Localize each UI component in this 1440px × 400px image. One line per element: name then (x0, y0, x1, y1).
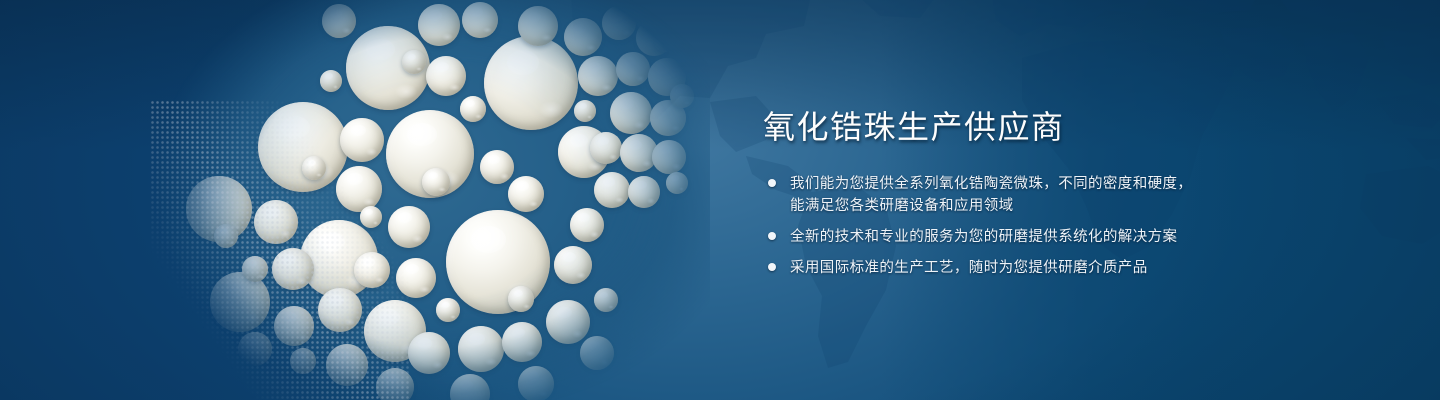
benefit-item-1-line-1: 我们能为您提供全系列氧化锆陶瓷微珠，不同的密度和硬度， (790, 173, 1233, 195)
bullet-dot-icon (768, 232, 776, 240)
bullet-dot-icon (768, 179, 776, 187)
banner-headline: 氧化锆珠生产供应商 (763, 105, 1233, 149)
benefit-item-3: 采用国际标准的生产工艺，随时为您提供研磨介质产品 (763, 257, 1233, 279)
bullet-dot-icon (768, 263, 776, 271)
banner-content: 氧化锆珠生产供应商 我们能为您提供全系列氧化锆陶瓷微珠，不同的密度和硬度， 能满… (763, 105, 1233, 288)
benefit-item-3-line-1: 采用国际标准的生产工艺，随时为您提供研磨介质产品 (790, 257, 1233, 279)
benefit-item-1-line-2: 能满足您各类研磨设备和应用领域 (790, 195, 1233, 217)
promo-banner: 氧化锆珠生产供应商 我们能为您提供全系列氧化锆陶瓷微珠，不同的密度和硬度， 能满… (0, 0, 1440, 400)
benefit-item-2: 全新的技术和专业的服务为您的研磨提供系统化的解决方案 (763, 226, 1233, 248)
benefit-item-1: 我们能为您提供全系列氧化锆陶瓷微珠，不同的密度和硬度， 能满足您各类研磨设备和应… (763, 173, 1233, 217)
benefit-list: 我们能为您提供全系列氧化锆陶瓷微珠，不同的密度和硬度， 能满足您各类研磨设备和应… (763, 173, 1233, 279)
benefit-item-2-line-1: 全新的技术和专业的服务为您的研磨提供系统化的解决方案 (790, 226, 1233, 248)
